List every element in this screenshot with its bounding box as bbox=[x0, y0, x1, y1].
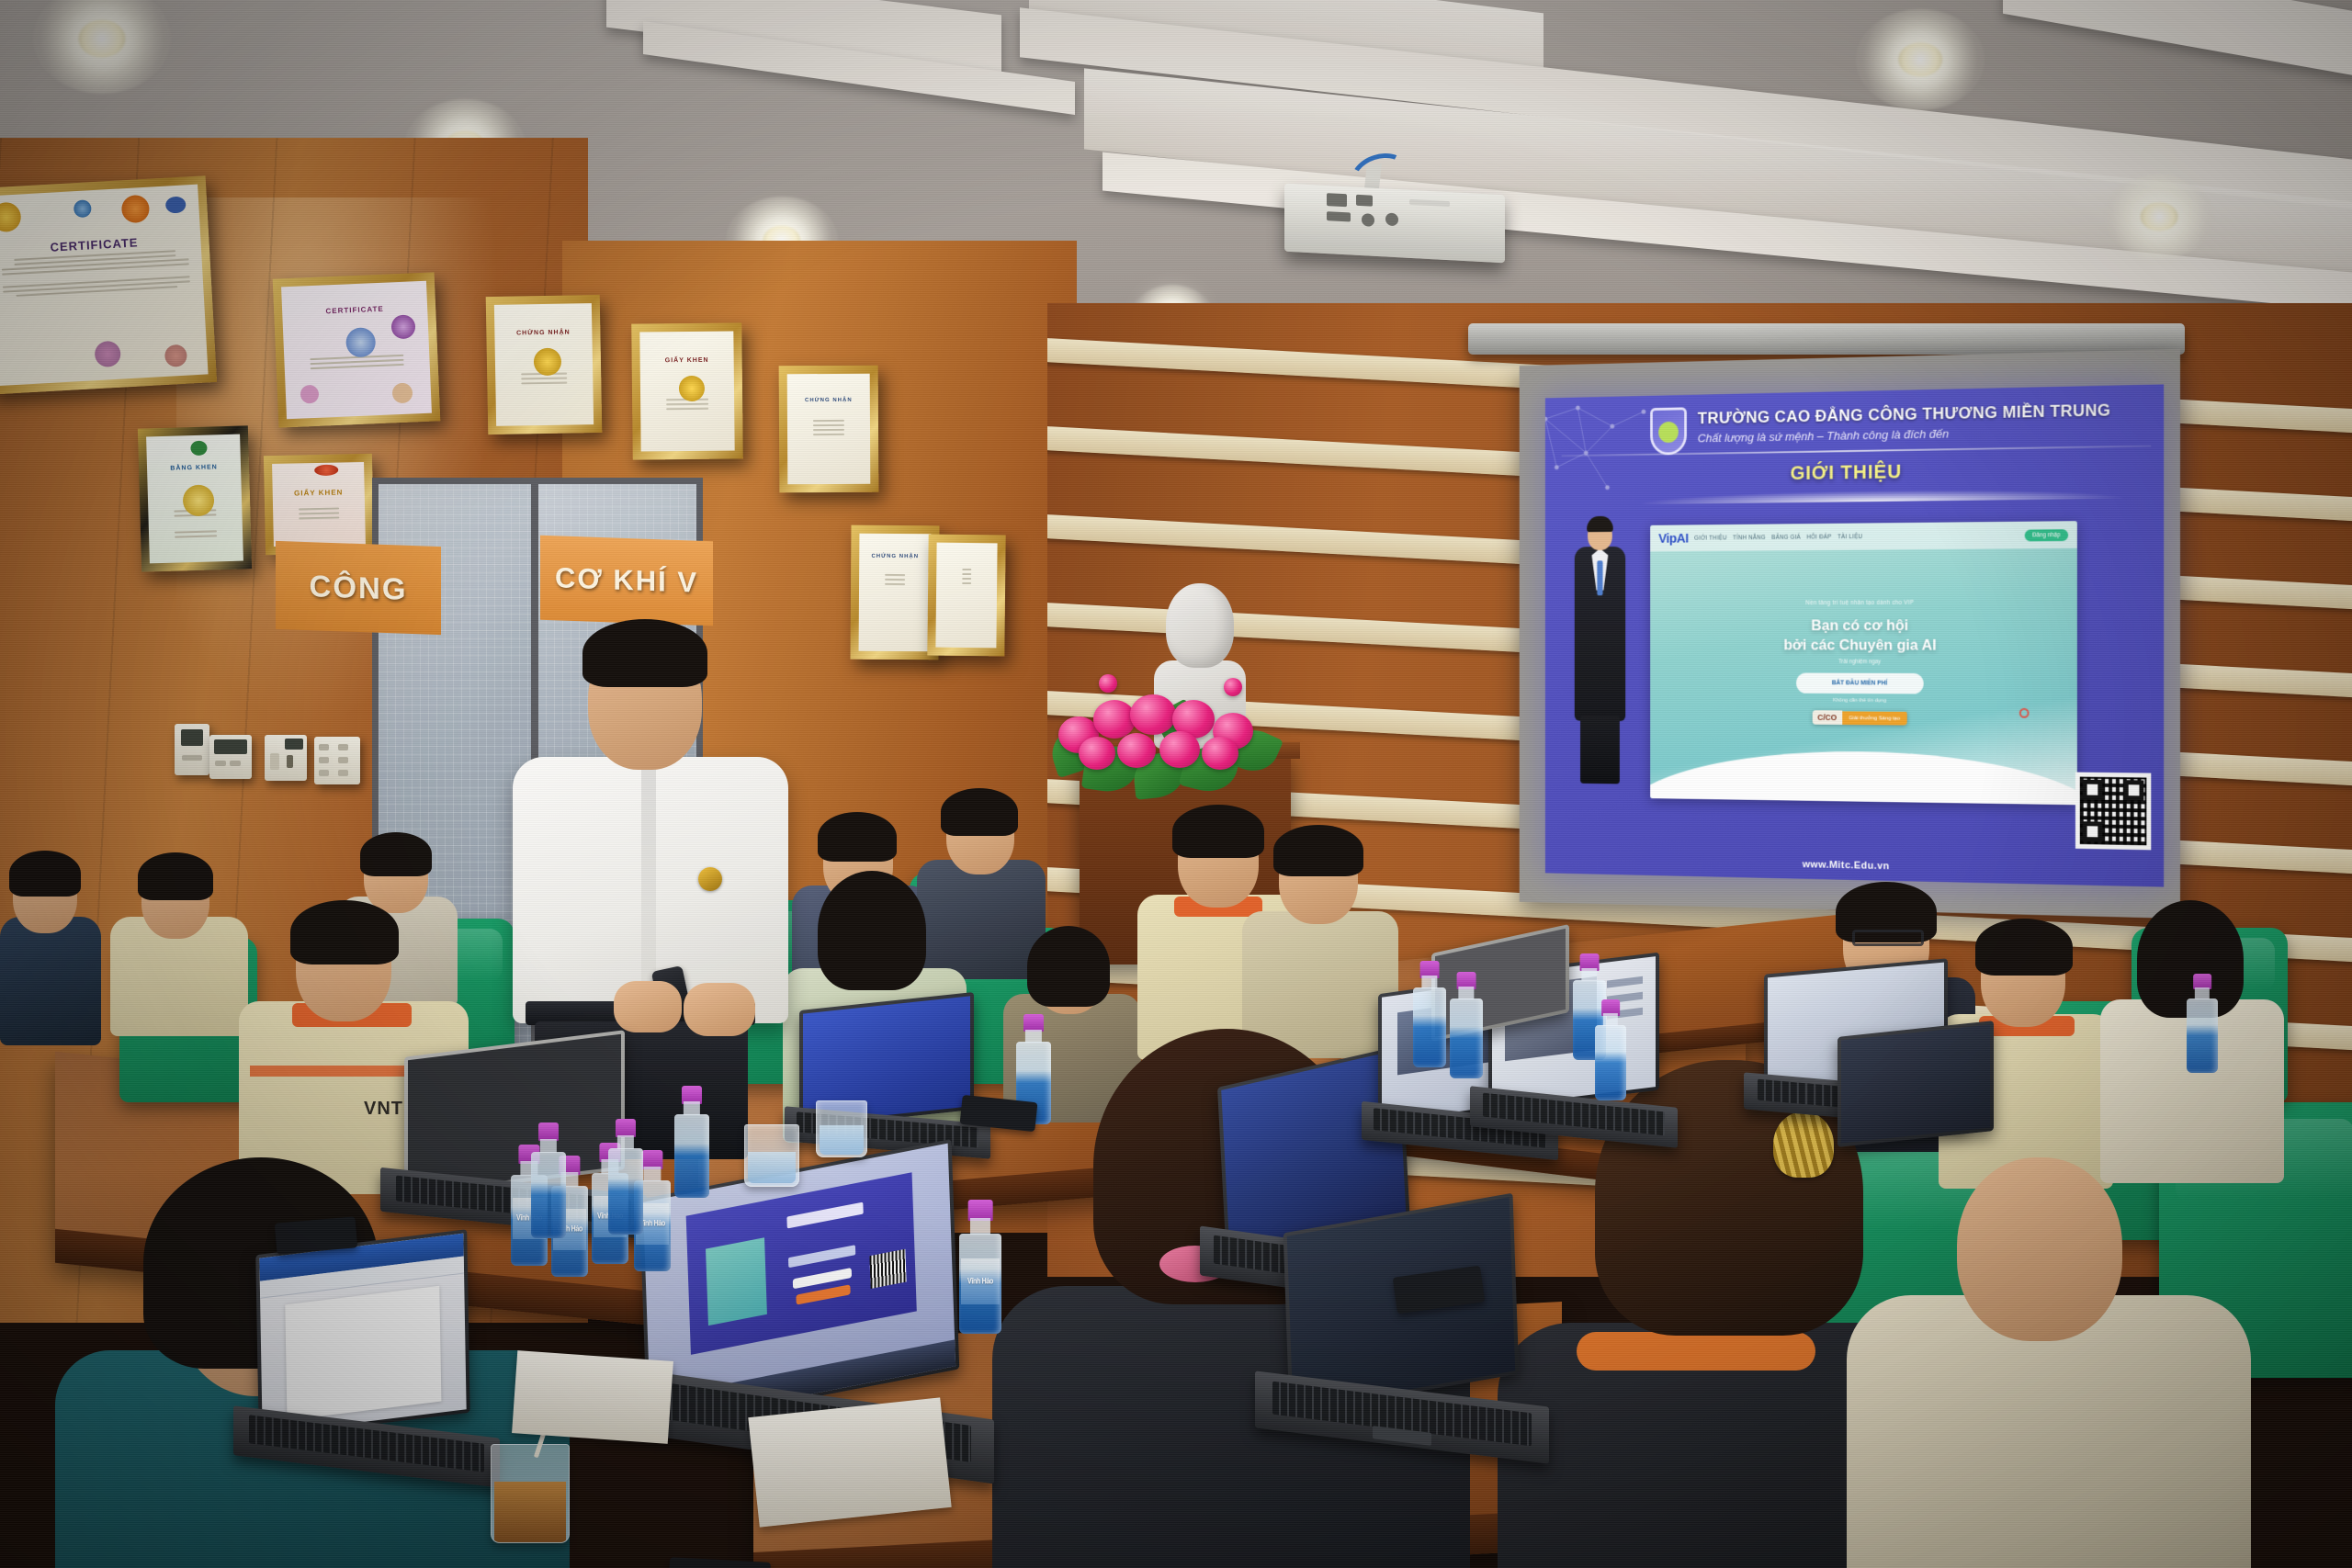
mockup-navbar: VipAI GIỚI THIỆU TÍNH NĂNG BẢNG GIÁ HỎI … bbox=[1650, 521, 2077, 551]
attendee bbox=[0, 852, 101, 1036]
certificate-title: CHỨNG NHẬN bbox=[500, 329, 586, 337]
light-switch-panel[interactable] bbox=[314, 737, 360, 784]
website-mockup: VipAI GIỚI THIỆU TÍNH NĂNG BẢNG GIÁ HỎI … bbox=[1650, 521, 2077, 805]
presentation-slide: TRƯỜNG CAO ĐẲNG CÔNG THƯƠNG MIỀN TRUNG C… bbox=[1545, 384, 2164, 886]
water-bottle[interactable] bbox=[1413, 961, 1446, 1067]
pink-lotus-bouquet bbox=[1049, 669, 1290, 797]
award-badge: C/CO Giải thưởng Sáng tạo bbox=[1813, 710, 1907, 725]
slide-footer-url: www.Mitc.Edu.vn bbox=[1545, 854, 2164, 878]
nav-item[interactable]: GIỚI THIỆU bbox=[1694, 535, 1726, 541]
mockup-cta-button[interactable]: BẮT ĐẦU MIỄN PHÍ bbox=[1796, 672, 1924, 694]
cursor-marker-icon bbox=[2019, 708, 2030, 718]
room-sign-left: CÔNG bbox=[276, 541, 441, 635]
certificate-frame: GIẤY KHEN bbox=[264, 454, 374, 555]
certificate-title: CHỨNG NHẬN bbox=[793, 398, 865, 403]
mockup-eyebrow: Nền tảng trí tuệ nhân tạo dành cho VIP bbox=[1650, 599, 2077, 606]
badge-right-text: Giải thưởng Sáng tạo bbox=[1842, 711, 1907, 725]
ceiling-spotlight bbox=[1856, 9, 1984, 110]
attendee bbox=[110, 854, 248, 1029]
shield-logo-icon bbox=[1650, 407, 1687, 455]
paper-documents[interactable] bbox=[512, 1350, 673, 1444]
presenter-badge bbox=[698, 867, 722, 891]
headline-line-2: bởi các Chuyên gia AI bbox=[1783, 637, 1936, 654]
mockup-subnote: Không cần thẻ tín dụng bbox=[1650, 697, 2077, 705]
water-bottle[interactable] bbox=[608, 1119, 643, 1235]
water-bottle[interactable] bbox=[674, 1086, 709, 1198]
nav-item[interactable]: TÍNH NĂNG bbox=[1733, 535, 1766, 541]
certificate-title: CHỨNG NHẬN bbox=[865, 554, 925, 559]
certificate-frame: BẰNG KHEN bbox=[138, 425, 252, 571]
mockup-wave-decoration bbox=[1650, 749, 2077, 805]
drinking-glass[interactable] bbox=[744, 1124, 799, 1187]
certificate-title: GIẤY KHEN bbox=[646, 357, 729, 365]
presenter-hair bbox=[582, 619, 707, 687]
ac-remote-holder[interactable] bbox=[209, 735, 252, 779]
nav-item[interactable]: TÀI LIỆU bbox=[1837, 534, 1862, 540]
certificate-frame bbox=[927, 535, 1005, 657]
certificate-frame: CERTIFICATE bbox=[0, 175, 217, 395]
certificate-frame: CHỨNG NHẬN bbox=[850, 525, 939, 660]
room-sign-right: CƠ KHÍ V bbox=[540, 536, 713, 626]
certificate-frame: CHỨNG NHẬN bbox=[779, 366, 879, 493]
mockup-headline: Bạn có cơ hội bởi các Chuyên gia AI bbox=[1650, 615, 2077, 656]
mockup-note: Trải nghiệm ngay bbox=[1650, 659, 2077, 666]
water-bottle[interactable] bbox=[1450, 972, 1483, 1078]
water-bottle[interactable] bbox=[1595, 999, 1626, 1100]
drinking-glass[interactable] bbox=[816, 1100, 867, 1157]
certificate-frame: GIẤY KHEN bbox=[631, 322, 743, 459]
certificate-frame: CERTIFICATE bbox=[273, 272, 441, 427]
nav-item[interactable]: BẢNG GIÁ bbox=[1771, 534, 1801, 540]
slide-swoosh-decoration bbox=[1642, 488, 2122, 504]
bottle-brand: Vĩnh Hảo bbox=[639, 1220, 665, 1228]
projection-screen-case bbox=[1468, 323, 2185, 355]
paper-documents[interactable] bbox=[748, 1397, 951, 1527]
attendee-foreground bbox=[1847, 1157, 2251, 1568]
water-bottle[interactable]: Vĩnh Hảo bbox=[959, 1200, 1001, 1334]
water-bottle[interactable] bbox=[531, 1122, 566, 1238]
eyeglasses-icon bbox=[1852, 930, 1924, 946]
qr-code-icon bbox=[2075, 773, 2151, 851]
attendee bbox=[1242, 827, 1398, 1047]
slide-presenter-figure bbox=[1565, 518, 1635, 780]
ceiling-spotlight bbox=[2104, 175, 2214, 259]
ac-remote-holder[interactable] bbox=[175, 724, 209, 775]
certificate-title: GIẤY KHEN bbox=[278, 488, 359, 498]
bottle-brand: Vĩnh Hảo bbox=[967, 1277, 993, 1285]
hair-clip-icon bbox=[1773, 1111, 1834, 1178]
ceiling-projector bbox=[1284, 184, 1505, 264]
badge-left-text: C/CO bbox=[1813, 710, 1842, 725]
uniform-polo-logo: VNT bbox=[364, 1099, 403, 1120]
headline-line-1: Bạn có cơ hội bbox=[1811, 616, 1908, 634]
meeting-room-scene: CERTIFICATE CERTIFICATE BẰNG KHEN bbox=[0, 0, 2352, 1568]
nav-item[interactable]: HỎI ĐÁP bbox=[1806, 534, 1831, 540]
vipai-logo: VipAI bbox=[1658, 531, 1689, 547]
certificate-frame: CHỨNG NHẬN bbox=[486, 295, 603, 434]
light-switch-panel[interactable] bbox=[265, 735, 307, 781]
certificate-title: BẰNG KHEN bbox=[153, 464, 235, 473]
water-bottle[interactable] bbox=[2187, 974, 2218, 1073]
login-button[interactable]: Đăng nhập bbox=[2024, 529, 2068, 541]
projection-screen: TRƯỜNG CAO ĐẲNG CÔNG THƯƠNG MIỀN TRUNG C… bbox=[1520, 349, 2180, 919]
iced-coffee-glass[interactable] bbox=[491, 1444, 570, 1543]
